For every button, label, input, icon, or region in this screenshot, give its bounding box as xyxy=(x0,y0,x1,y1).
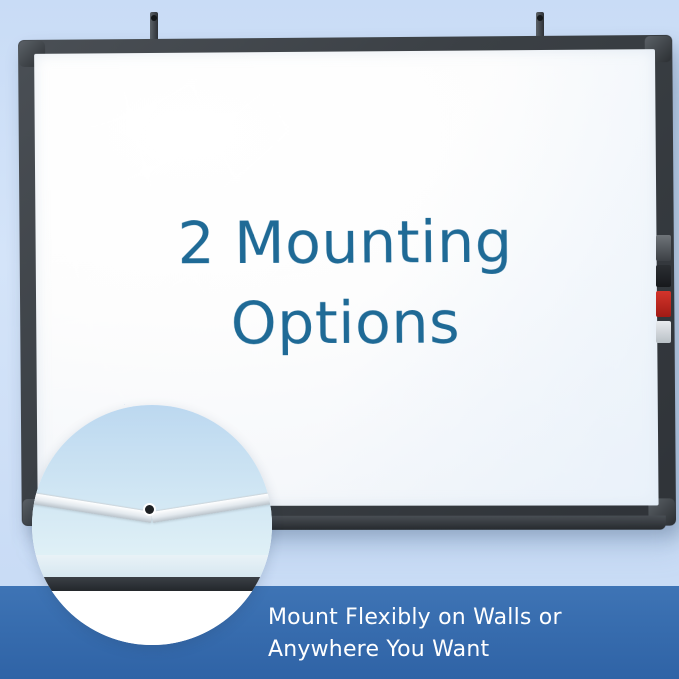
bracket-arm-right xyxy=(151,489,272,523)
black-marker-icon xyxy=(656,265,671,287)
red-marker-icon xyxy=(656,291,671,317)
mounting-bracket xyxy=(32,489,272,553)
closeup-board-rail xyxy=(32,577,272,591)
headline-line-2: Options xyxy=(36,281,658,364)
closeup-lower-area xyxy=(32,591,272,645)
caption-text: Mount Flexibly on Walls or Anywhere You … xyxy=(268,602,665,666)
white-marker-icon xyxy=(656,321,671,343)
accessory-strip xyxy=(656,235,672,355)
bracket-arm-left xyxy=(32,489,153,523)
caption-line-2: Anywhere You Want xyxy=(268,634,665,666)
headline-text: 2 Mounting Options xyxy=(35,201,657,364)
wall-hanger-left-icon xyxy=(150,12,158,42)
mounting-bracket-closeup xyxy=(32,405,272,645)
caption-line-1: Mount Flexibly on Walls or xyxy=(268,602,665,634)
bracket-screw-icon xyxy=(145,505,154,514)
product-image: 2 Mounting Options Mount Flexibly on Wal… xyxy=(0,0,679,679)
eraser-icon xyxy=(656,235,671,261)
headline-line-1: 2 Mounting xyxy=(177,207,513,277)
